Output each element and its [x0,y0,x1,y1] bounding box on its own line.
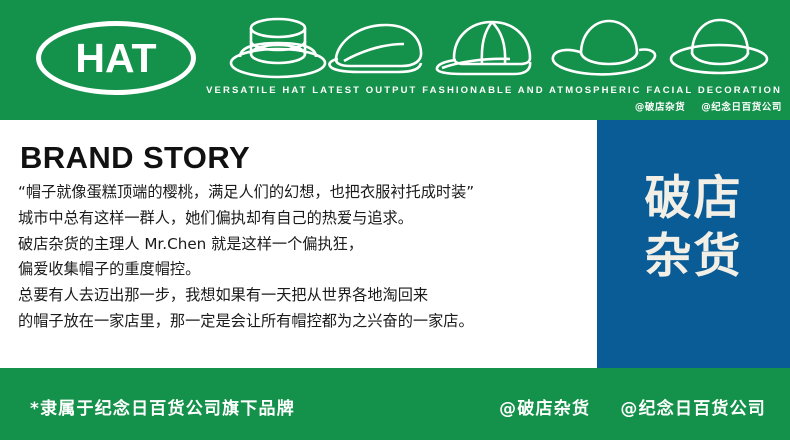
header-tagline: VERSATILE HAT LATEST OUTPUT FASHIONABLE … [0,85,782,96]
wide-brim-sun-hat-icon [547,12,665,85]
brand-mark-logo: 破店 杂货 [597,170,790,286]
brand-mark-line: 杂货 [597,228,790,286]
brand-logo-text: HAT [75,38,156,79]
header-handles: @破店杂货 @纪念日百货公司 [0,99,782,113]
story-line: 破店杂货的主理人 Mr.Chen 就是这样一个偏执狂， [18,232,588,258]
story-line: 总要有人去迈出那一步，我想如果有一天把从世界各地淘回来 [18,283,588,309]
brand-mark-line: 破店 [597,170,790,228]
bowler-hat-icon [662,12,774,85]
brand-story-text: “帽子就像蛋糕顶端的樱桃，满足人们的幻想，也把衣服衬托成时装” 城市中总有这样一… [18,180,588,335]
header-handle-company: @纪念日百货公司 [701,102,782,113]
baseball-cap-icon [432,12,547,85]
footer-band: *隶属于纪念日百货公司旗下品牌 @破店杂货 @纪念日百货公司 [0,368,790,440]
top-hat-icon [222,12,334,85]
header-handle-shop: @破店杂货 [635,102,686,113]
footer-affiliation-note: *隶属于纪念日百货公司旗下品牌 [30,394,295,419]
footer-handles: @破店杂货 @纪念日百货公司 [499,394,766,419]
story-line: 城市中总有这样一群人，她们偏执却有自己的热爱与追求。 [18,206,588,232]
flat-cap-icon [324,12,436,85]
hat-oval-badge-icon: HAT [36,21,196,95]
footer-handle-company: @纪念日百货公司 [620,399,766,419]
hat-icon-row [222,12,782,80]
story-line: 的帽子放在一家店里，那一定是会让所有帽控都为之兴奋的一家店。 [18,309,588,335]
poster-canvas: HAT [0,0,790,440]
footer-handle-shop: @破店杂货 [499,399,590,419]
brand-mark-panel: 破店 杂货 [597,120,790,368]
body-area: BRAND STORY “帽子就像蛋糕顶端的樱桃，满足人们的幻想，也把衣服衬托成… [0,120,790,368]
page-title: BRAND STORY [20,142,250,173]
story-line: “帽子就像蛋糕顶端的樱桃，满足人们的幻想，也把衣服衬托成时装” [18,180,588,206]
story-line: 偏爱收集帽子的重度帽控。 [18,257,588,283]
header-band: HAT [0,0,790,120]
